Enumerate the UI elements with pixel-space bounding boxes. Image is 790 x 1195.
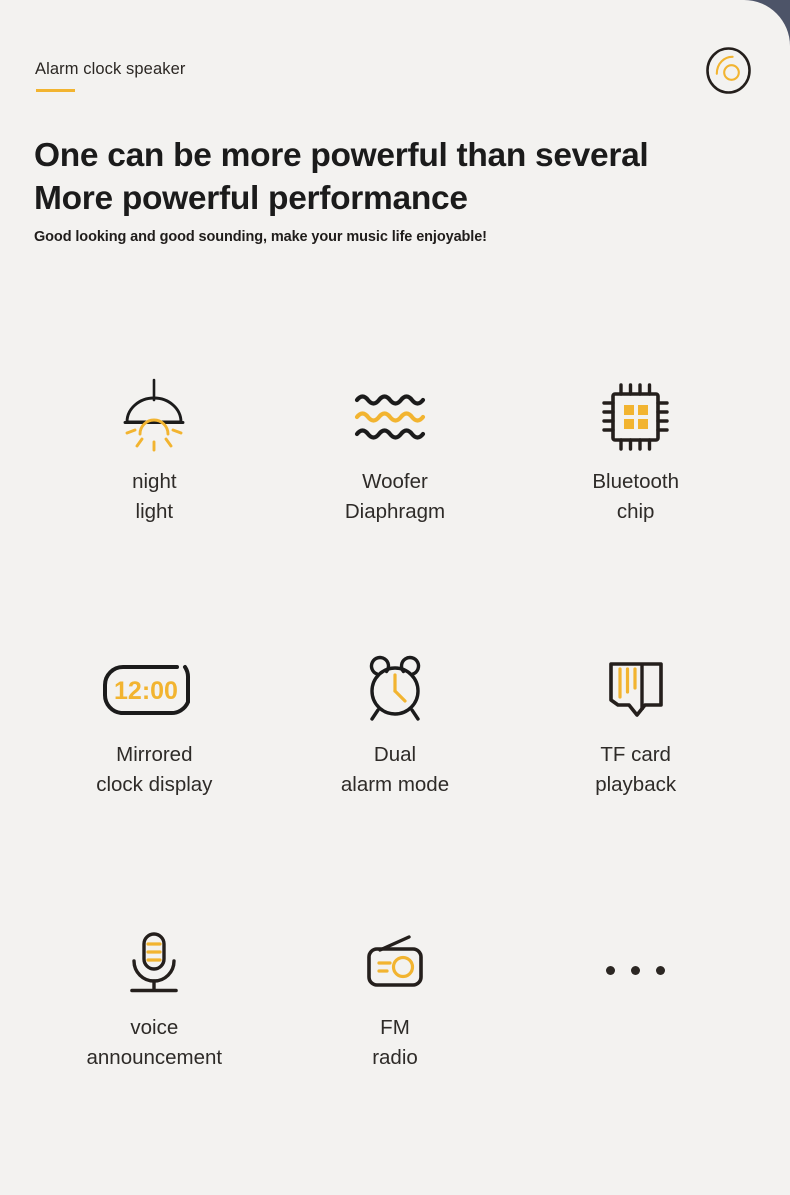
feature-label: Bluetooth chip [592,467,679,526]
eyebrow-underline [36,89,75,92]
microphone-icon [123,922,185,1004]
feature-item-tf-card-playback: TF card playback [515,649,756,799]
ellipsis-dot [606,966,615,975]
feature-label: Mirrored clock display [96,740,212,799]
ellipsis-icon[interactable] [606,922,665,1004]
feature-label: Woofer Diaphragm [345,467,445,526]
ellipsis-dot [656,966,665,975]
alarm-clock-icon [362,649,428,731]
feature-item-more[interactable] [515,922,756,1072]
feature-label: night light [132,467,176,526]
feature-item-night-light: night light [34,376,275,526]
feature-label: Dual alarm mode [341,740,449,799]
mirror-clock-display-icon: 12:00 [102,649,206,731]
clock-display-value: 12:00 [114,677,178,705]
product-feature-page: Alarm clock speaker One can be more powe… [0,0,790,1195]
feature-item-woofer-diaphragm: Woofer Diaphragm [275,376,516,526]
feature-label: voice announcement [87,1013,223,1072]
page-title-line-1: One can be more powerful than several [34,134,754,177]
hero-block: One can be more powerful than several Mo… [34,134,754,245]
eyebrow-label: Alarm clock speaker [35,60,185,79]
feature-item-voice-announcement: voice announcement [34,922,275,1072]
sound-waves-icon [351,376,439,458]
page-title-line-2: More powerful performance [34,177,754,220]
pendant-night-light-icon [115,376,193,458]
feature-item-mirrored-clock-display: 12:00 Mirrored clock display [34,649,275,799]
ellipsis-dot [631,966,640,975]
feature-item-dual-alarm-mode: Dual alarm mode [275,649,516,799]
disc-logo-icon [705,47,752,94]
feature-label: TF card playback [595,740,676,799]
page-header: Alarm clock speaker [0,0,790,118]
feature-grid: night light Woofer Diaphragm [34,376,756,1072]
page-subtitle: Good looking and good sounding, make you… [34,229,754,245]
tf-card-icon [604,649,668,731]
fm-radio-icon [361,922,429,1004]
feature-item-fm-radio: FM radio [275,922,516,1072]
feature-item-bluetooth-chip: Bluetooth chip [515,376,756,526]
feature-label: FM radio [372,1013,418,1072]
bluetooth-chip-icon [601,376,671,458]
